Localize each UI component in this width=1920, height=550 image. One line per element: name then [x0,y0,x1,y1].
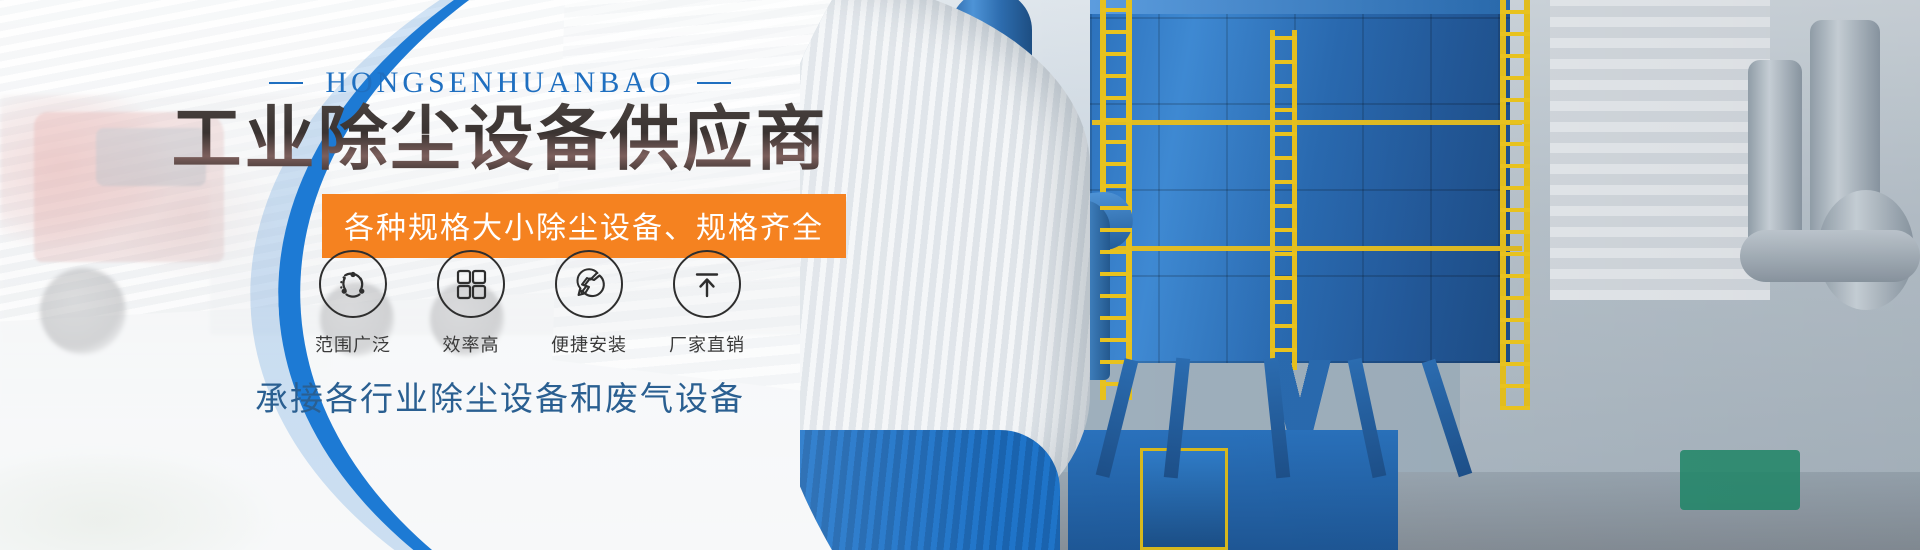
ladder-rung [1100,30,1132,34]
ladder-rung [1500,252,1530,256]
ladder-rung [1100,162,1132,166]
feature-item-scope: 范围广泛 [300,250,406,357]
ladder-rung [1270,228,1297,232]
ladder-rung [1100,206,1132,210]
ladder-rung [1500,76,1530,80]
ladder-rung [1500,164,1530,168]
ladder-rung [1100,184,1132,188]
ladder-rung [1500,384,1530,388]
ladder-rung [1100,96,1132,100]
dash-right-icon [697,82,731,84]
ladder-rung [1100,294,1132,298]
ladder-rung [1100,140,1132,144]
ladder-rung [1500,120,1530,124]
ladder-rung [1270,60,1297,64]
ladder-rung [1270,180,1297,184]
feature-item-install: 便捷安装 [536,250,642,357]
feature-ring [555,250,623,318]
promo-banner: HONGSENHUANBAO 工业除尘设备供应商 各种规格大小除尘设备、规格齐全 [0,0,1920,550]
ladder-rung [1100,228,1132,232]
ladder-rung [1270,348,1297,352]
feature-item-factory-direct: 厂家直销 [654,250,760,357]
ladder-rung [1100,8,1132,12]
banner-content: HONGSENHUANBAO 工业除尘设备供应商 各种规格大小除尘设备、规格齐全 [0,0,1000,550]
feature-label: 厂家直销 [654,331,760,357]
ladder-rung [1270,204,1297,208]
page-title: 工业除尘设备供应商 [0,100,1000,178]
ladder-rung [1100,74,1132,78]
ladder-rung [1270,84,1297,88]
ladder-rung [1100,316,1132,320]
ladder-rung [1500,296,1530,300]
feature-ring [319,250,387,318]
ladder-rung [1500,32,1530,36]
ladder-rung [1270,276,1297,280]
ladder-rung [1500,208,1530,212]
ladder-rung [1270,132,1297,136]
eyebrow-text: HONGSENHUANBAO [325,66,674,100]
ladder-rung [1270,156,1297,160]
subtitle-ribbon: 各种规格大小除尘设备、规格齐全 [322,194,846,258]
ladder-rung [1100,338,1132,342]
scope-network-icon [333,264,373,304]
ladder-rung [1270,324,1297,328]
ladder-rung [1500,230,1530,234]
ladder-rung [1500,274,1530,278]
ladder-rung [1270,300,1297,304]
feature-list: 范围广泛 效率高 [300,250,760,357]
ladder-rung [1500,340,1530,344]
ladder-rung [1500,54,1530,58]
wrench-icon [569,264,609,304]
ladder-rung [1500,186,1530,190]
ladder-rung [1500,142,1530,146]
ladder-rung [1100,272,1132,276]
up-arrow-icon [688,265,726,303]
ladder-rung [1270,252,1297,256]
ladder-rung [1100,118,1132,122]
ladder-rung [1500,98,1530,102]
ladder-rung [1500,362,1530,366]
ladder-rung [1100,250,1132,254]
ladder-rung [1270,108,1297,112]
ladder-rung [1500,318,1530,322]
ladder-rung [1270,36,1297,40]
feature-label: 效率高 [418,331,524,357]
feature-item-efficiency: 效率高 [418,250,524,357]
feature-ring [673,250,741,318]
feature-ring [437,250,505,318]
eyebrow-brand: HONGSENHUANBAO [0,66,1000,100]
ladder-rung [1100,52,1132,56]
feature-label: 便捷安装 [536,331,642,357]
dash-left-icon [269,82,303,84]
grid-squares-icon [452,265,490,303]
tagline: 承接各行业除尘设备和废气设备 [0,372,1000,420]
ladder-rung [1500,10,1530,14]
feature-label: 范围广泛 [300,331,406,357]
ladder-rung [1500,406,1530,410]
